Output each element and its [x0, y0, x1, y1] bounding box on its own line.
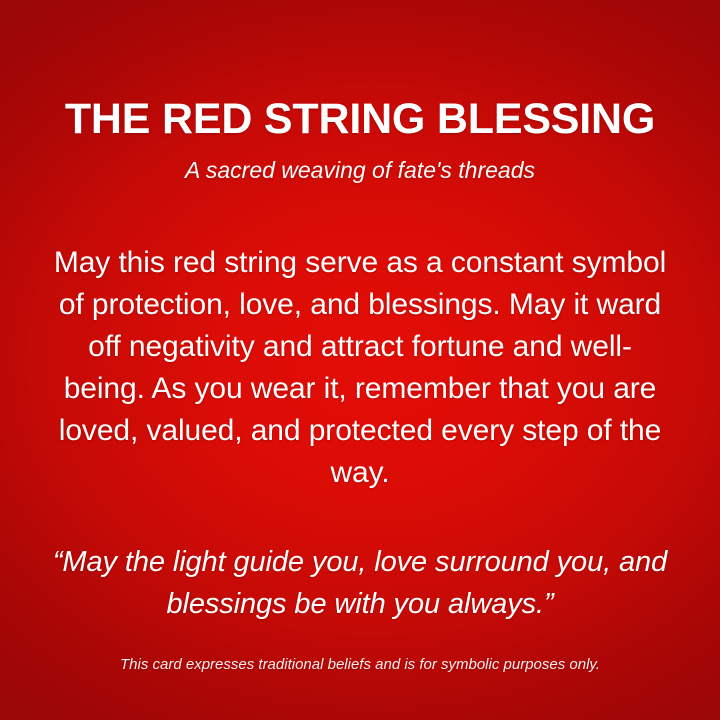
- page-title: THE RED STRING BLESSING: [65, 0, 655, 142]
- red-string-blessing-card: THE RED STRING BLESSING A sacred weaving…: [0, 0, 720, 720]
- card-subtitle: A sacred weaving of fate's threads: [185, 142, 535, 185]
- blessing-body-text: May this red string serve as a constant …: [52, 185, 668, 494]
- disclaimer-text: This card expresses traditional beliefs …: [0, 655, 720, 675]
- blessing-quote: “May the light guide you, love surround …: [52, 494, 668, 625]
